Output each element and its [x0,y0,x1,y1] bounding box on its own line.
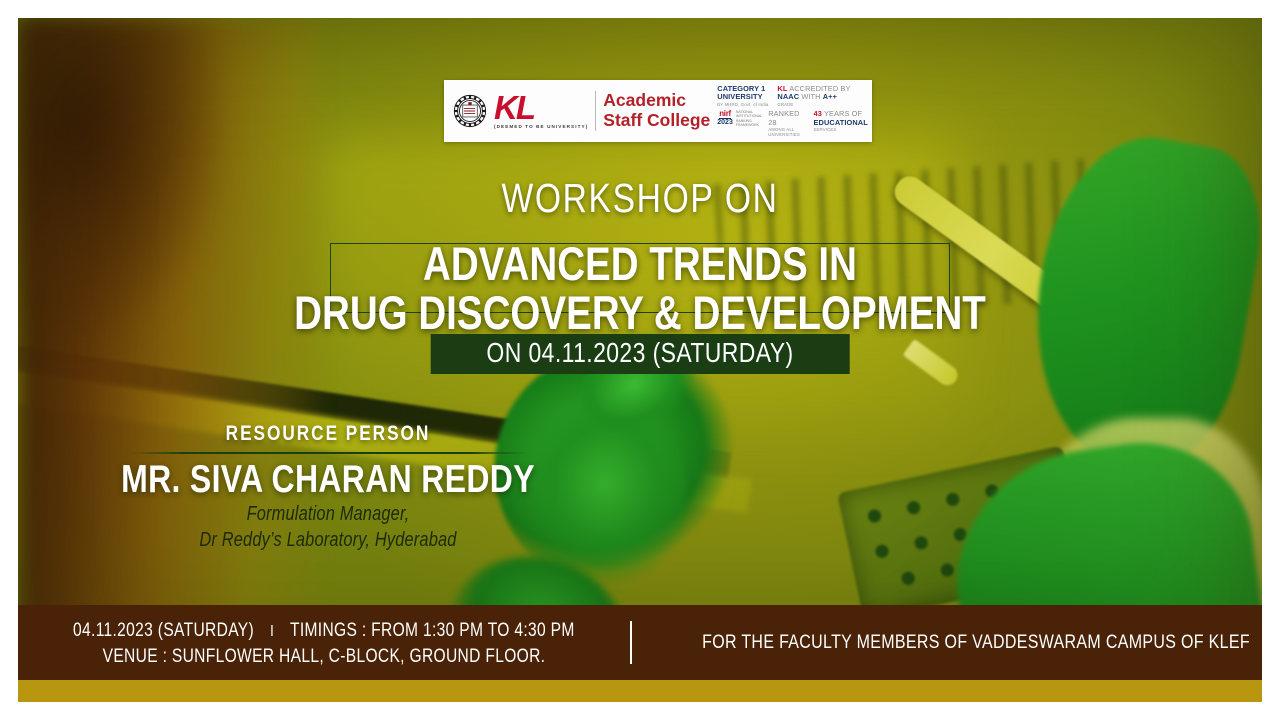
gold-accent-strip [18,680,1262,702]
bottom-bar-right: FOR THE FACULTY MEMBERS OF VADDESWARAM C… [632,605,1262,680]
badge-cat1-line2: UNIVERSITY [717,93,768,102]
resource-person-label: RESOURCE PERSON [90,423,566,444]
badge-naac-accredited: KL ACCREDITED BY NAAC WITH A++ GRADE [777,85,850,107]
nirf-mark-year: 2023 [717,119,733,126]
badge-naac-grade: A++ [823,92,837,101]
badge-naac-with: WITH [801,92,820,101]
nirf-mark-top: nirf [719,110,731,120]
bottom-bar-date-time-row: 04.11.2023 (SATURDAY) I TIMINGS : FROM 1… [73,620,575,642]
badge-nirf-line1: RANKED 28 [768,110,804,127]
kl-letters-group: KL [494,93,588,122]
bottom-bar-left: 04.11.2023 (SATURDAY) I TIMINGS : FROM 1… [18,605,630,680]
badge-years-of: YEARS OF [824,109,862,118]
resource-person-block: RESOURCE PERSON MR. SIVA CHARAN REDDY Fo… [38,423,618,553]
bottom-bar-separator: I [259,623,286,640]
bottom-bar-audience: FOR THE FACULTY MEMBERS OF VADDESWARAM C… [702,631,1250,653]
academic-staff-college-name: Academic Staff College [603,91,710,130]
bottom-bar-venue: VENUE : SUNFLOWER HALL, C-BLOCK, GROUND … [102,646,545,668]
headline-kicker-wrap: WORKSHOP ON [18,178,1262,219]
bottom-bar-timings: TIMINGS : FROM 1:30 PM TO 4:30 PM [290,620,575,641]
badge-naac-sub: GRADE [777,102,850,107]
unit-name-line1: Academic [603,91,710,111]
bottom-bar-date: 04.11.2023 (SATURDAY) [73,620,254,641]
badge-category-1-university: CATEGORY 1 UNIVERSITY BY MHRD, Govt. of … [717,85,768,107]
resource-person-role-line2: Dr Reddy’s Laboratory, Hyderabad [90,527,566,553]
badge-naac-name: NAAC [777,92,799,101]
title-line-1: ADVANCED TRENDS IN [130,240,1150,289]
kl-letters: KL [494,93,534,122]
badge-nirf-rank: nirf 2023 NATIONAL INSTITUTIONAL RANKING… [717,110,804,137]
headline-kicker: WORKSHOP ON [130,178,1150,219]
accreditation-badges: CATEGORY 1 UNIVERSITY BY MHRD, Govt. of … [717,85,870,138]
badge-years-line2: EDUCATIONAL [814,119,868,128]
kl-subtitle: (DEEMED TO BE UNIVERSITY) [494,124,588,129]
kl-wordmark: KL (DEEMED TO BE UNIVERSITY) [494,93,588,128]
badge-nirf-sub2: UNIVERSITIES [768,132,804,137]
resource-divider [128,452,528,454]
title-line-2: DRUG DISCOVERY & DEVELOPMENT [130,289,1150,338]
badge-cat1-sub: BY MHRD, Govt. of India [717,102,768,107]
badge-years-of-service: 43 YEARS OF EDUCATIONAL SERVICES [814,110,868,132]
nirf-mark-side: NATIONAL INSTITUTIONAL RANKING FRAMEWORK [736,110,765,128]
bottom-info-bar: 04.11.2023 (SATURDAY) I TIMINGS : FROM 1… [18,605,1262,680]
resource-person-role-line1: Formulation Manager, [90,501,566,527]
badge-row-bottom: nirf 2023 NATIONAL INSTITUTIONAL RANKING… [717,110,868,137]
badge-years-sub: SERVICES [814,127,868,132]
badge-row-top: CATEGORY 1 UNIVERSITY BY MHRD, Govt. of … [717,85,868,107]
date-banner: ON 04.11.2023 (SATURDAY) [431,334,850,374]
kl-university-gear-emblem-icon [453,94,487,128]
badge-naac-line2: NAAC WITH A++ [777,93,850,102]
unit-name-line2: Staff College [603,111,710,131]
nirf-logo-icon: nirf 2023 [717,110,733,127]
institution-logo-bar: KL (DEEMED TO BE UNIVERSITY) Academic St… [444,80,872,142]
workshop-poster: KL (DEEMED TO BE UNIVERSITY) Academic St… [18,18,1262,702]
resource-person-name: MR. SIVA CHARAN REDDY [90,460,566,501]
date-banner-text: ON 04.11.2023 (SATURDAY) [486,339,793,367]
headline-title: ADVANCED TRENDS IN DRUG DISCOVERY & DEVE… [18,240,1262,338]
badge-years-number: 43 [814,109,822,118]
logo-divider [595,91,596,131]
badge-nirf-ranked-text: RANKED 28 [768,109,799,127]
